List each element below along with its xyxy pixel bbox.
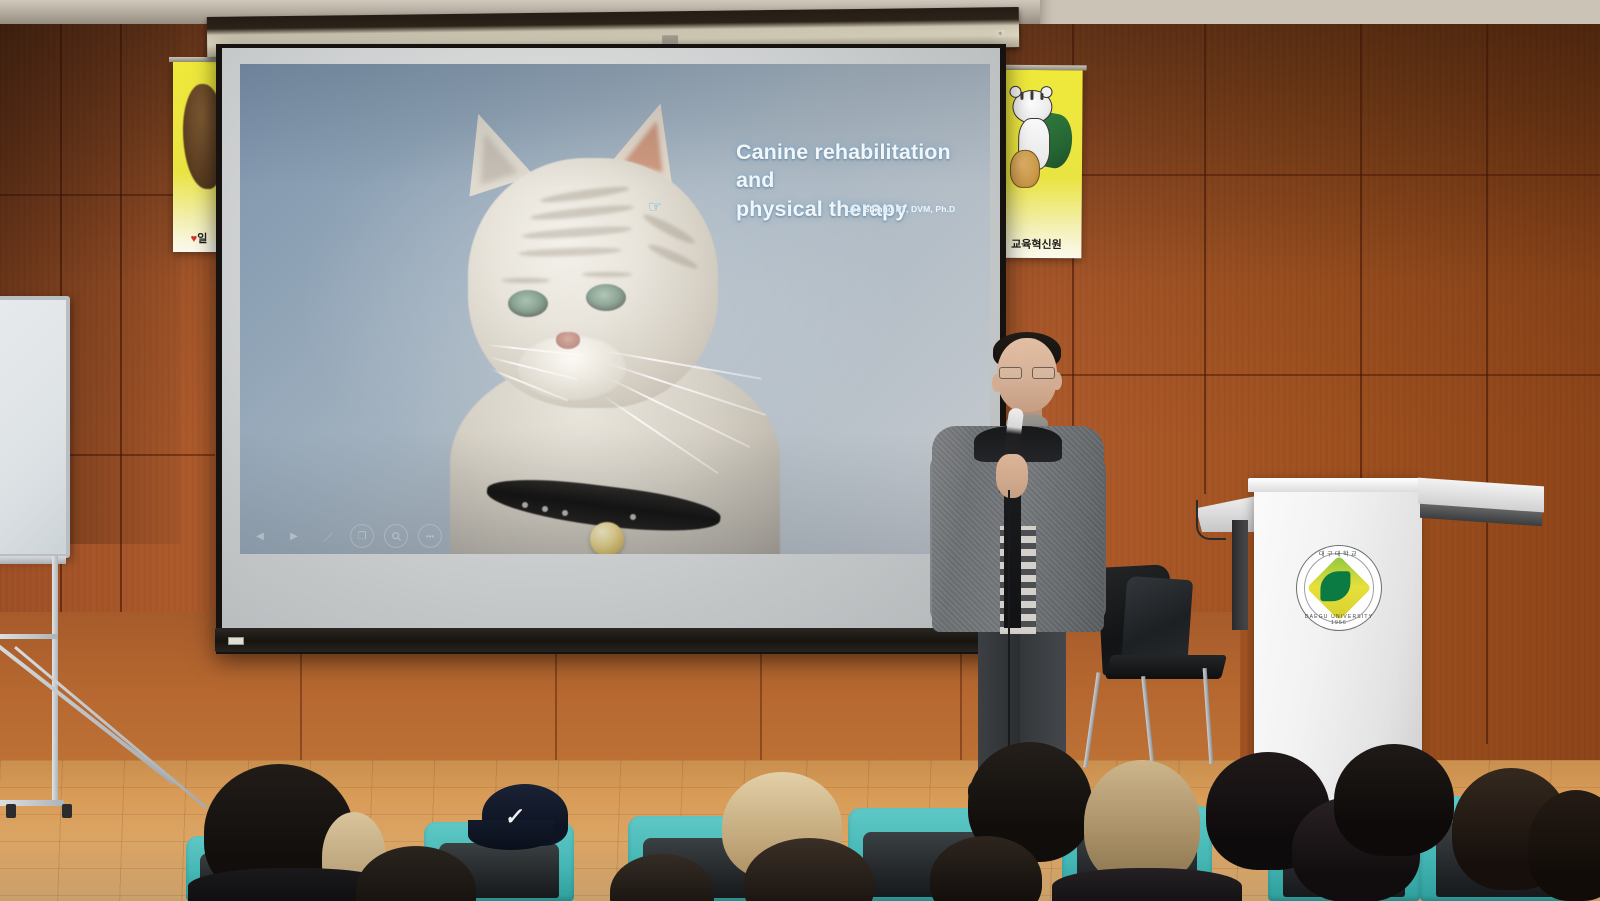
previous-image-button[interactable]: ◀ — [248, 524, 272, 548]
projection-screen-weight-bar — [215, 628, 1009, 652]
emblem-korean-text: 대구대학교 — [1297, 549, 1381, 558]
image-viewer-toolbar[interactable]: ◀ ▶ ／ ❐ ••• — [248, 524, 442, 548]
nike-swoosh-icon: ✓ — [503, 805, 523, 828]
tiger-stripe — [1040, 93, 1043, 100]
glasses-lens-right — [1032, 367, 1055, 379]
slide-author: Lee Shinho PT, DVM, Ph.D — [846, 204, 986, 214]
wall-seam — [1050, 374, 1600, 376]
more-options-button[interactable]: ••• — [418, 524, 442, 548]
audience-head — [1334, 744, 1454, 856]
wall-seam — [1204, 24, 1206, 494]
whiteboard-crossbar — [0, 634, 58, 639]
copy-button[interactable]: ❐ — [350, 524, 374, 548]
university-emblem: 대구대학교 DAEGU UNIVERSITY 1956 — [1296, 545, 1382, 631]
glasses-lens-left — [999, 367, 1022, 379]
tiger-mascot-graphic — [1006, 86, 1071, 196]
zoom-button[interactable] — [384, 524, 408, 548]
whiteboard — [0, 296, 70, 558]
next-image-button[interactable]: ▶ — [282, 524, 306, 548]
speaker-hand — [996, 454, 1028, 498]
screen-brand-tag — [228, 637, 244, 645]
emblem-english-text: DAEGU UNIVERSITY 1956 — [1297, 614, 1381, 626]
banner-left-label: 일 — [197, 233, 207, 245]
whiteboard-wheel — [6, 804, 16, 818]
lecture-hall-scene: ♥일 교육혁신원 ＊ — [0, 0, 1600, 901]
podium-equipment-slot — [1232, 520, 1248, 630]
housing-label: ＊ — [996, 30, 1005, 37]
tiger-stripe — [1030, 91, 1033, 100]
draw-tool-button[interactable]: ／ — [316, 524, 340, 548]
speaker-glasses — [999, 367, 1055, 380]
podium-cable — [1196, 500, 1226, 540]
podium-top-surface — [1248, 478, 1426, 492]
microphone-cable — [1008, 490, 1010, 740]
tiger-stripe — [1020, 92, 1023, 100]
audience-shoulders — [1052, 868, 1242, 901]
presentation-slide: ☞ Canine rehabilitation and physical the… — [240, 64, 990, 554]
tiger-companion-dog — [1010, 150, 1040, 188]
wall-seam — [1486, 24, 1488, 744]
slide-title-line-1: Canine rehabilitation and — [736, 138, 986, 195]
wall-seam — [1050, 174, 1600, 176]
whiteboard-wheel — [62, 804, 72, 818]
